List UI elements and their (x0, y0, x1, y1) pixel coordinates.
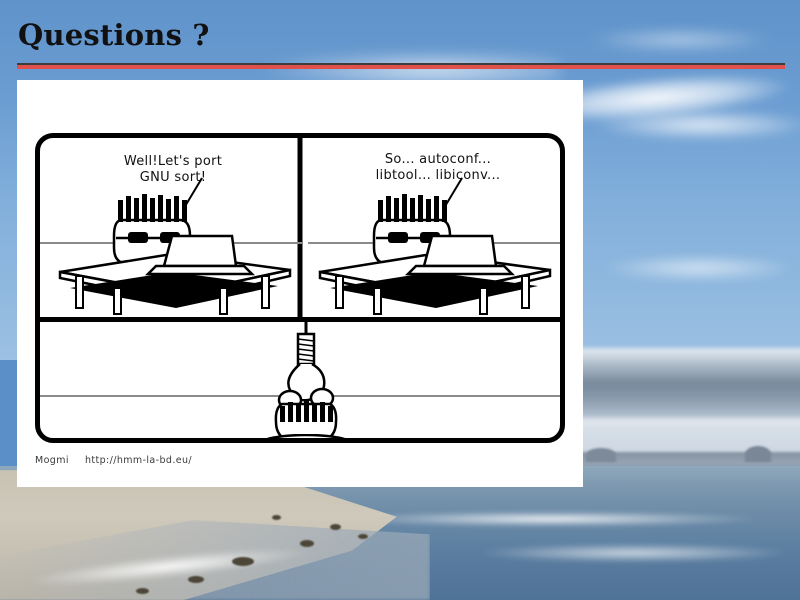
shore-pebble (232, 557, 254, 566)
cloud-faint-right (600, 245, 800, 291)
shore-pebble (300, 540, 314, 547)
shore-pebble (358, 534, 368, 539)
sea-rock-left (586, 448, 616, 462)
page-title: Questions ? (18, 18, 210, 52)
panel-3-illustration (236, 322, 376, 443)
title-rule-accent (17, 65, 785, 69)
cloud-streak-lower (560, 100, 800, 150)
shore-pebble (136, 588, 149, 594)
wave-crest-secondary (430, 540, 800, 566)
title-rule (17, 63, 785, 70)
panel-3-stool (246, 434, 366, 443)
panel-2-illustration (312, 176, 562, 316)
panel-1-illustration (52, 176, 302, 316)
slide: Questions ? Well!Let's port GNU sort! (0, 0, 800, 600)
shore-pebble (188, 576, 204, 583)
comic-author: Mogmi (35, 455, 69, 466)
shore-pebble (272, 515, 281, 520)
shore-pebble (330, 524, 341, 530)
content-card: Well!Let's port GNU sort! (17, 80, 583, 487)
sea-rock-right (745, 446, 771, 462)
comic-credit: Mogmihttp://hmm-la-bd.eu/ (35, 455, 192, 466)
comic-url: http://hmm-la-bd.eu/ (85, 455, 192, 466)
comic-strip: Well!Let's port GNU sort! (35, 133, 565, 443)
